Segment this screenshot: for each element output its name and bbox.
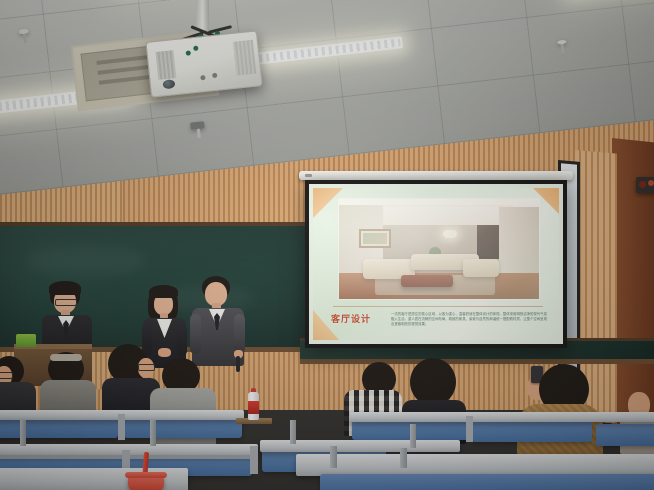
- projector-body: [145, 30, 262, 97]
- glasses-icon: [138, 364, 155, 371]
- microphone-icon: [236, 356, 240, 372]
- projector-lens: [162, 79, 175, 89]
- slide-caption-rule: [333, 306, 543, 307]
- slide-body-text: 一流的客厅是居住的核心区域，以客为重心，温馨舒适在整体设计的体现。整体采用明快洁…: [391, 312, 547, 327]
- glasses-icon: [0, 372, 13, 379]
- clasped-hands: [158, 348, 171, 357]
- glasses-icon: [55, 299, 77, 306]
- wall-speaker: [636, 177, 654, 193]
- headband: [50, 354, 82, 361]
- slide-interior-render: [339, 199, 539, 299]
- presenter-right: [190, 276, 246, 368]
- presentation-slide: 客厅设计 一流的客厅是居住的核心区域，以客为重心，温馨舒适在整体设计的体现。整体…: [313, 188, 559, 340]
- classroom-photo: 客厅设计 一流的客厅是居住的核心区域，以客为重心，温馨舒适在整体设计的体现。整体…: [0, 0, 654, 490]
- screen-roller-housing: [299, 171, 573, 180]
- projection-screen: 客厅设计 一流的客厅是居住的核心区域，以客为重心，温馨舒适在整体设计的体现。整体…: [305, 180, 567, 348]
- slide-title: 客厅设计: [331, 312, 383, 325]
- drink-cup[interactable]: [128, 476, 164, 490]
- screen-frame: 客厅设计 一流的客厅是居住的核心区域，以客为重心，温馨舒适在整体设计的体现。整体…: [305, 180, 567, 348]
- water-bottle: [248, 392, 259, 420]
- green-box: [16, 334, 36, 347]
- slide-caption: 客厅设计 一流的客厅是居住的核心区域，以客为重心，温馨舒适在整体设计的体现。整体…: [331, 312, 547, 327]
